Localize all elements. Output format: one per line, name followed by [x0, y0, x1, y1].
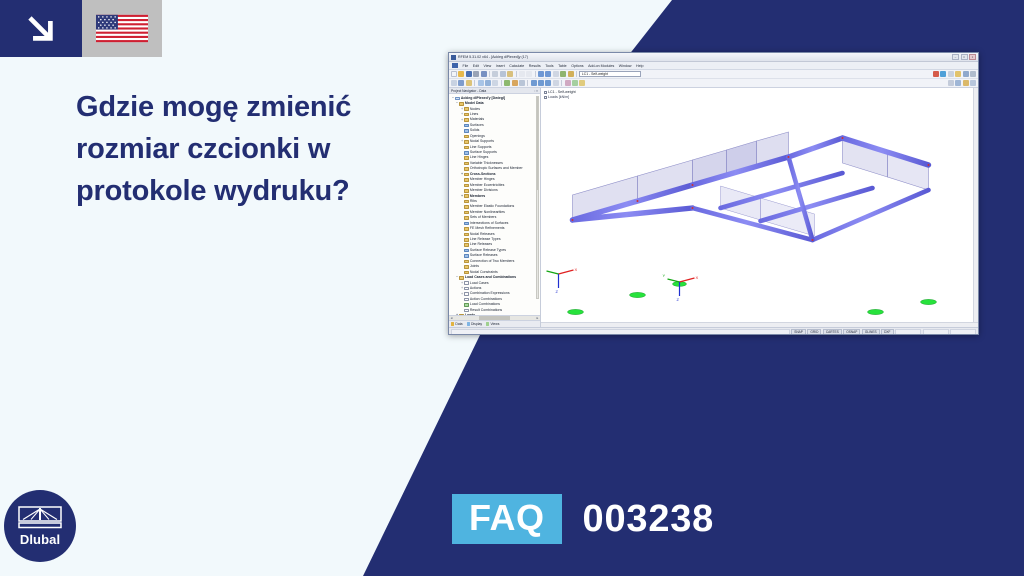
- folder-icon: [464, 162, 469, 166]
- toolbar2-member-icon[interactable]: [466, 80, 472, 86]
- toolbar-copy-icon[interactable]: [500, 71, 506, 77]
- viewport-vertical-scrollbar[interactable]: [973, 88, 978, 322]
- menu-bar: File Edit View Insert Calculate Results …: [449, 62, 978, 70]
- status-toggle-grid[interactable]: GRID: [807, 329, 821, 335]
- minimize-button[interactable]: –: [952, 54, 959, 60]
- toolbar-primary: LC1 - Self-weight: [449, 70, 978, 79]
- flag-box: [82, 0, 162, 57]
- tree-label: Sets of Members: [470, 216, 496, 220]
- tree-label: Action Combinations: [470, 298, 502, 302]
- folder-icon: [464, 222, 469, 226]
- status-toggle-osnap[interactable]: OSNAP: [843, 329, 860, 335]
- truss-bridge-icon: [18, 506, 62, 530]
- document-icon: [464, 292, 469, 296]
- toolbar-print-icon[interactable]: [473, 71, 479, 77]
- toolbar-tables-icon[interactable]: [955, 71, 961, 77]
- project-navigator: Project Navigator - Data ▫ × − Ackleg dl…: [449, 88, 541, 327]
- toolbar-separator: [474, 80, 475, 86]
- tree-label: Openings: [470, 135, 485, 139]
- folder-icon: [464, 249, 469, 253]
- project-icon: [455, 97, 460, 101]
- tree-label: Solids: [470, 129, 480, 133]
- toolbar-separator: [576, 71, 577, 77]
- status-toggle-dxf[interactable]: DXF: [881, 329, 893, 335]
- toolbar-separator: [561, 80, 562, 86]
- navigator-header-controls[interactable]: ▫ ×: [534, 89, 538, 93]
- tree-label: Member Divisions: [470, 189, 498, 193]
- toolbar2-load-icon[interactable]: [504, 80, 510, 86]
- tree-label: Ackleg dlPlexed'y [Dwiegl]: [461, 97, 505, 101]
- faq-badge: FAQ: [452, 494, 562, 544]
- viewport-horizontal-scrollbar[interactable]: [541, 322, 978, 327]
- work-area: Project Navigator - Data ▫ × − Ackleg dl…: [449, 88, 978, 327]
- tree-label: Member Elastic Foundations: [470, 205, 514, 209]
- toolbar2-reactions-icon[interactable]: [572, 80, 578, 86]
- toolbar2-help-icon[interactable]: [970, 80, 976, 86]
- menu-app-logo-icon: [452, 63, 458, 68]
- app-icon: [451, 55, 456, 60]
- tree-label: Surface Supports: [470, 151, 497, 155]
- toolbar-secondary: [449, 79, 978, 88]
- tree-label: Member Hinges: [470, 178, 495, 182]
- status-message-pane: [451, 329, 790, 335]
- tree-label: Cross-Sections: [470, 173, 496, 177]
- language-badge: [0, 0, 162, 57]
- nodal-supports: [568, 282, 937, 315]
- document-icon: [464, 298, 469, 302]
- folder-icon: [464, 178, 469, 182]
- folder-icon: [464, 254, 469, 258]
- menu-options[interactable]: Options: [571, 64, 583, 68]
- navigator-tab-data[interactable]: Data: [451, 322, 463, 326]
- navigator-title: Project Navigator - Data: [451, 89, 486, 93]
- toolbar-render-icon[interactable]: [560, 71, 566, 77]
- document-icon: [464, 287, 469, 291]
- folder-icon: [464, 146, 469, 150]
- tree-label: Nodal Releases: [470, 233, 495, 237]
- tree-label: Orthotropic Surfaces and Member: [470, 167, 523, 171]
- toolbar-zoom-out-icon[interactable]: [545, 71, 551, 77]
- slide-root: Gdzie mogę zmienić rozmiar czcionki w pr…: [0, 0, 1024, 576]
- toolbar-cut-icon[interactable]: [492, 71, 498, 77]
- folder-icon: [464, 227, 469, 231]
- folder-icon: [464, 189, 469, 193]
- corner-axis-label-z: Z: [556, 289, 559, 294]
- arrow-down-right-icon: [26, 14, 56, 44]
- window-titlebar: RFEM 5.31.02 x64 - [Ackleg dlPlexed]y (1…: [449, 53, 978, 62]
- toolbar2-support-icon[interactable]: [492, 80, 498, 86]
- folder-icon: [464, 107, 469, 111]
- toolbar-new-icon[interactable]: [451, 71, 457, 77]
- folder-icon: [464, 167, 469, 171]
- toolbar2-loadcase-icon[interactable]: [512, 80, 518, 86]
- tree-label: Surface Release Types: [470, 249, 506, 253]
- toolbar2-solid-icon[interactable]: [485, 80, 491, 86]
- tree-label: Variable Thicknesses: [470, 162, 503, 166]
- folder-icon: [464, 151, 469, 155]
- status-bar: SNAP GRID CARTES OSNAP GLINES DXF: [449, 327, 978, 335]
- folder-icon: [464, 135, 469, 139]
- tree-label: Member Nonlinearities: [470, 211, 505, 215]
- navigator-tree[interactable]: − Ackleg dlPlexed'y [Dwiegl] − Model Dat…: [449, 94, 540, 315]
- load-case-combo[interactable]: LC1 - Self-weight: [579, 71, 641, 77]
- folder-icon: [459, 276, 464, 280]
- toolbar-snap-icon[interactable]: [970, 71, 976, 77]
- toolbar-calculate-icon[interactable]: [933, 71, 939, 77]
- folder-icon: [464, 118, 469, 122]
- toolbar-redo-icon[interactable]: [526, 71, 532, 77]
- folder-icon: [464, 140, 469, 144]
- toolbar2-layers-icon[interactable]: [955, 80, 961, 86]
- tree-label: Line Release Types: [470, 238, 501, 242]
- tree-label: Members: [470, 195, 485, 199]
- tree-label: Load Combinations: [470, 303, 500, 307]
- toolbar2-view-top-icon[interactable]: [538, 80, 544, 86]
- maximize-button[interactable]: □: [961, 54, 968, 60]
- faq-footer: FAQ 003238: [452, 494, 714, 544]
- tree-label: Nodal Constraints: [470, 271, 498, 275]
- toolbar2-node-icon[interactable]: [451, 80, 457, 86]
- axis-label-z: Z: [677, 297, 680, 302]
- headline-line-3: protokole wydruku?: [76, 170, 436, 212]
- folder-icon: [464, 271, 469, 275]
- axis-label-y: Y: [663, 273, 666, 278]
- faq-number: 003238: [583, 500, 715, 538]
- toolbar-undo-icon[interactable]: [519, 71, 525, 77]
- tab-label: Display: [471, 322, 482, 326]
- status-cell-coords: [895, 329, 921, 335]
- toolbar-open-icon[interactable]: [458, 71, 464, 77]
- arrow-box: [0, 0, 82, 57]
- toolbar-print-preview-icon[interactable]: [481, 71, 487, 77]
- folder-icon: [459, 314, 464, 315]
- tab-label: Views: [490, 322, 499, 326]
- menu-results[interactable]: Results: [529, 64, 541, 68]
- tree-label: Line Releases: [470, 243, 492, 247]
- toolbar-zoom-in-icon[interactable]: [538, 71, 544, 77]
- menu-file[interactable]: File: [463, 64, 469, 68]
- tree-label: Surface Releases: [470, 254, 498, 258]
- tree-label: Materials: [470, 118, 484, 122]
- menu-insert[interactable]: Insert: [496, 64, 505, 68]
- toolbar-grid-icon[interactable]: [963, 71, 969, 77]
- folder-icon: [464, 194, 469, 198]
- menu-calculate[interactable]: Calculate: [509, 64, 524, 68]
- folder-icon: [464, 124, 469, 128]
- folder-icon: [464, 260, 469, 264]
- close-button[interactable]: ×: [969, 54, 976, 60]
- tree-label: Combination Expressions: [470, 292, 510, 296]
- status-toggle-cartes[interactable]: CARTES: [823, 329, 842, 335]
- tree-label: Actions: [470, 287, 481, 291]
- data-tab-icon: [451, 322, 454, 325]
- dlubal-logo: Dlubal: [4, 490, 76, 562]
- folder-icon: [464, 265, 469, 269]
- toolbar2-deformation-icon[interactable]: [565, 80, 571, 86]
- folder-icon: [464, 238, 469, 242]
- views-tab-icon: [486, 322, 489, 325]
- folder-icon: [464, 156, 469, 160]
- toolbar-zoom-window-icon[interactable]: [553, 71, 559, 77]
- axis-label-x: X: [696, 275, 699, 280]
- menu-table[interactable]: Table: [558, 64, 567, 68]
- toolbar2-view-front-icon[interactable]: [531, 80, 537, 86]
- status-cell-mode: [950, 329, 976, 335]
- folder-icon: [464, 184, 469, 188]
- toolbar-display-settings-icon[interactable]: [948, 71, 954, 77]
- tree-label: Nodes: [470, 108, 480, 112]
- toolbar-view-mode-icon[interactable]: [568, 71, 574, 77]
- toolbar2-view-side-icon[interactable]: [545, 80, 551, 86]
- window-controls: – □ ×: [952, 54, 976, 60]
- headline-line-1: Gdzie mogę zmienić: [76, 86, 436, 128]
- navigator-tab-display[interactable]: Display: [467, 322, 483, 326]
- toolbar-separator: [516, 71, 517, 77]
- display-tab-icon: [467, 322, 470, 325]
- menu-addon-modules[interactable]: Add-on Modules: [588, 64, 614, 68]
- toolbar2-surface-icon[interactable]: [478, 80, 484, 86]
- menu-help[interactable]: Help: [636, 64, 643, 68]
- folder-icon: [464, 216, 469, 220]
- menu-view[interactable]: View: [484, 64, 492, 68]
- model-viewport[interactable]: LC1 - Self-weight Loads [kN/m]: [541, 88, 978, 327]
- toolbar2-mesh-icon[interactable]: [519, 80, 525, 86]
- tree-item-loads[interactable]: + Loads: [450, 313, 540, 315]
- toolbar-separator: [489, 71, 490, 77]
- headline: Gdzie mogę zmienić rozmiar czcionki w pr…: [76, 86, 436, 212]
- toolbar-separator: [527, 80, 528, 86]
- us-flag-icon: [96, 14, 148, 43]
- tree-label: Result Combinations: [470, 309, 502, 313]
- toolbar-separator: [535, 71, 536, 77]
- logo-text: Dlubal: [20, 532, 60, 547]
- status-toggle-glines[interactable]: GLINES: [862, 329, 880, 335]
- navigator-vertical-scrollbar[interactable]: [536, 96, 539, 299]
- toolbar2-info-icon[interactable]: [963, 80, 969, 86]
- menu-window[interactable]: Window: [619, 64, 632, 68]
- document-icon: [464, 309, 469, 313]
- window-title: RFEM 5.31.02 x64 - [Ackleg dlPlexed]y (1…: [458, 55, 952, 59]
- folder-icon: [464, 129, 469, 133]
- tree-label: Lines: [470, 113, 478, 117]
- toolbar-save-icon[interactable]: [466, 71, 472, 77]
- rfem-application-window: RFEM 5.31.02 x64 - [Ackleg dlPlexed]y (1…: [448, 52, 979, 335]
- tree-label: Line Supports: [470, 146, 492, 150]
- folder-icon: [464, 205, 469, 209]
- tree-label: Ribs: [470, 200, 477, 204]
- folder-icon: [464, 173, 469, 177]
- tree-label: Loads: [465, 314, 475, 315]
- toolbar2-printout-icon[interactable]: [579, 80, 585, 86]
- tree-label: Load Cases and Combinations: [465, 276, 516, 280]
- tree-label: Surfaces: [470, 124, 484, 128]
- toolbar-paste-icon[interactable]: [507, 71, 513, 77]
- tree-label: FE Mesh Refinements: [470, 227, 505, 231]
- menu-tools[interactable]: Tools: [545, 64, 553, 68]
- tab-label: Data: [455, 322, 462, 326]
- navigator-tab-views[interactable]: Views: [486, 322, 499, 326]
- headline-line-2: rozmiar czcionki w: [76, 128, 436, 170]
- tree-label: Member Eccentricities: [470, 184, 504, 188]
- toolbar2-filter-icon[interactable]: [948, 80, 954, 86]
- toolbar2-view-iso-icon[interactable]: [553, 80, 559, 86]
- menu-edit[interactable]: Edit: [473, 64, 479, 68]
- tree-label: Line Hinges: [470, 156, 488, 160]
- tree-label: Intersections of Surfaces: [470, 222, 509, 226]
- folder-icon: [464, 233, 469, 237]
- tree-label: Joints: [470, 265, 479, 269]
- status-cell-units: [923, 329, 949, 335]
- status-toggle-snap[interactable]: SNAP: [791, 329, 806, 335]
- corner-axis-label-x: X: [575, 267, 578, 272]
- navigator-tabs: Data Display Views: [449, 320, 540, 327]
- folder-icon: [464, 113, 469, 117]
- folder-icon: [464, 211, 469, 215]
- toolbar-separator: [501, 80, 502, 86]
- tree-label: Connection of Two Members: [470, 260, 515, 264]
- folder-icon: [464, 243, 469, 247]
- document-icon: [464, 281, 469, 285]
- document-icon: [464, 303, 469, 307]
- toolbar2-line-icon[interactable]: [458, 80, 464, 86]
- toolbar-results-icon[interactable]: [940, 71, 946, 77]
- structural-model-3d: X Y Z X Z: [541, 88, 978, 327]
- folder-icon: [464, 200, 469, 204]
- tree-label: Model Data: [465, 102, 484, 106]
- folder-icon: [459, 102, 464, 106]
- tree-label: Nodal Supports: [470, 140, 494, 144]
- tree-label: Load Cases: [470, 282, 489, 286]
